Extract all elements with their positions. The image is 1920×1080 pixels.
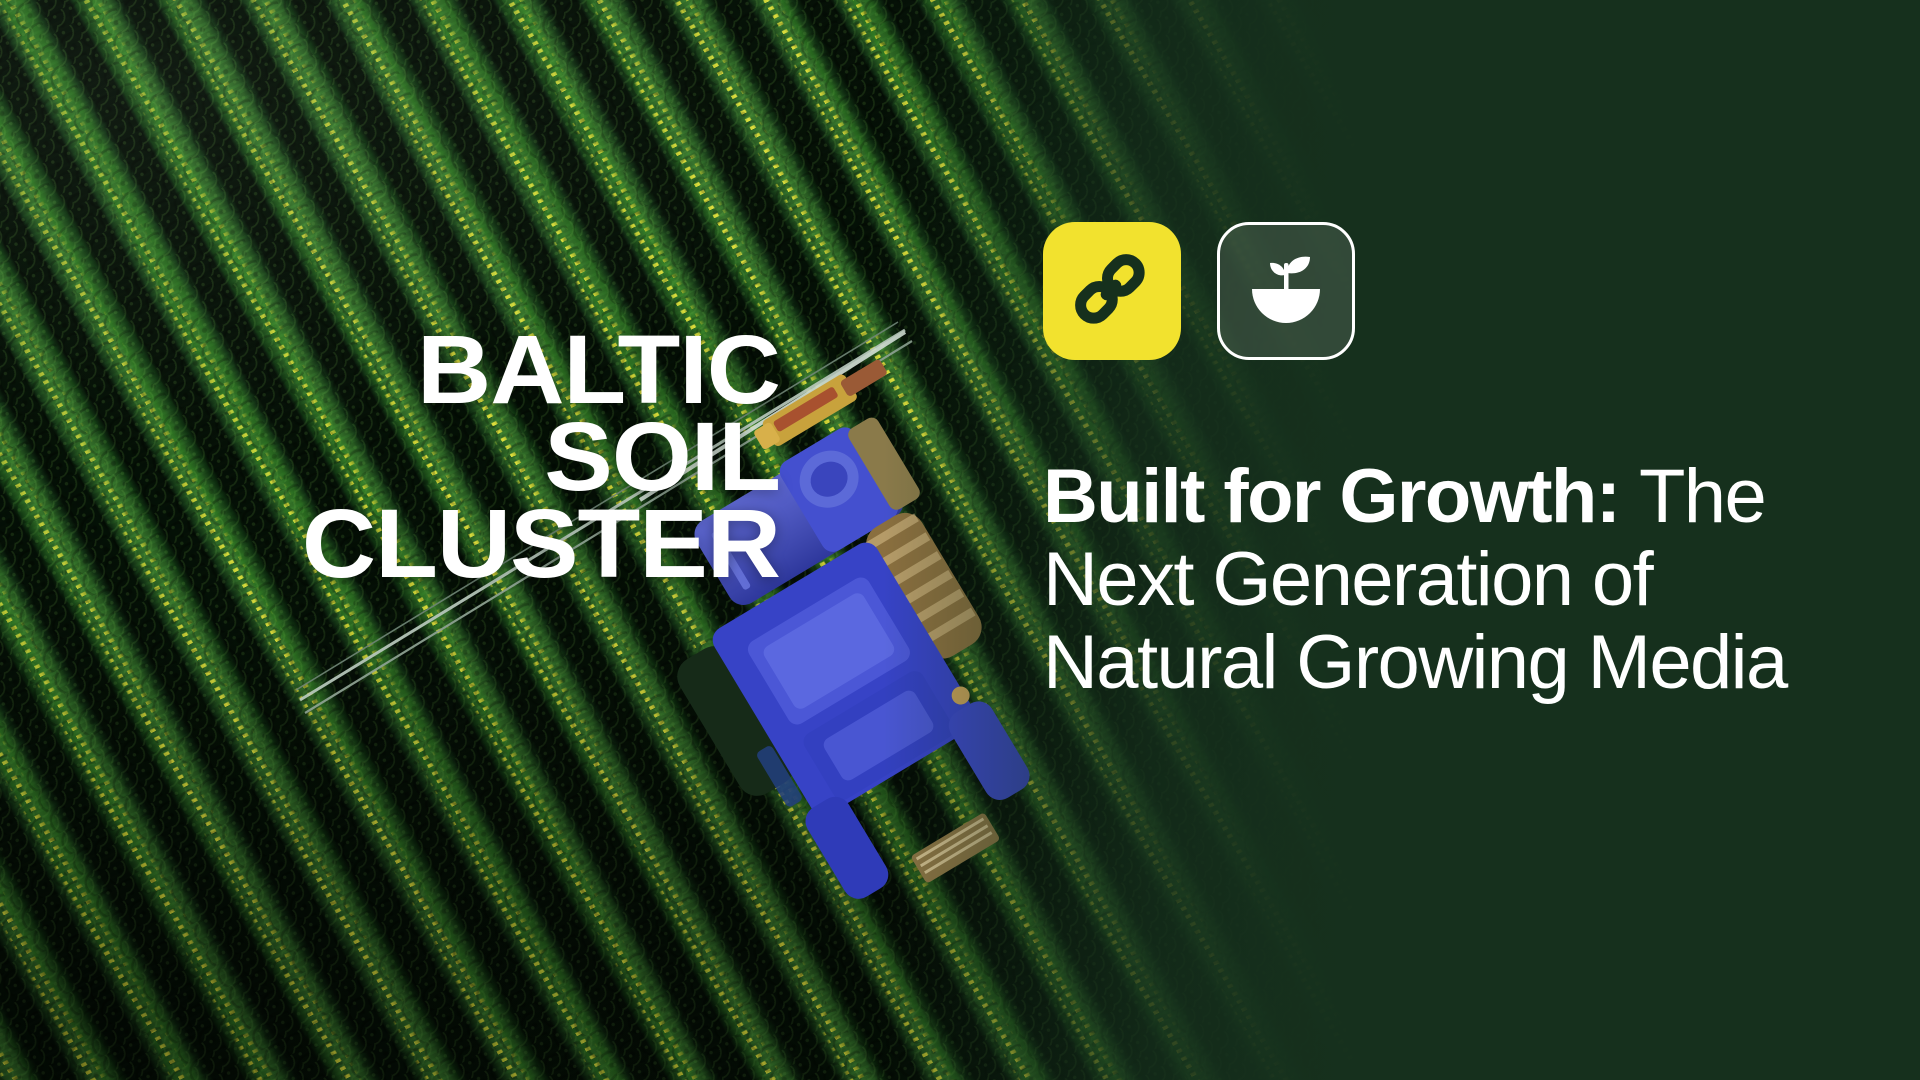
logo-line-soil: SOIL [102, 413, 780, 500]
presentation-slide: BALTIC SOIL CLUSTER [0, 0, 1920, 1080]
leaf-right [1287, 257, 1310, 274]
headline-emphasis: Built for Growth: [1043, 454, 1619, 539]
leaf-left [1270, 263, 1285, 276]
slide-headline: Built for Growth: The Next Generation of… [1043, 455, 1873, 704]
bowl-shape [1252, 289, 1320, 323]
baltic-soil-cluster-logo: BALTIC SOIL CLUSTER [102, 326, 780, 587]
logo-line-cluster: CLUSTER [102, 500, 780, 587]
link-chain-icon [1070, 249, 1154, 333]
icon-badge-group [1043, 222, 1355, 360]
stem [1284, 263, 1289, 291]
seedling-badge[interactable] [1217, 222, 1355, 360]
logo-line-baltic: BALTIC [102, 326, 780, 413]
link-badge[interactable] [1043, 222, 1181, 360]
seedling-in-bowl-icon [1244, 249, 1328, 333]
